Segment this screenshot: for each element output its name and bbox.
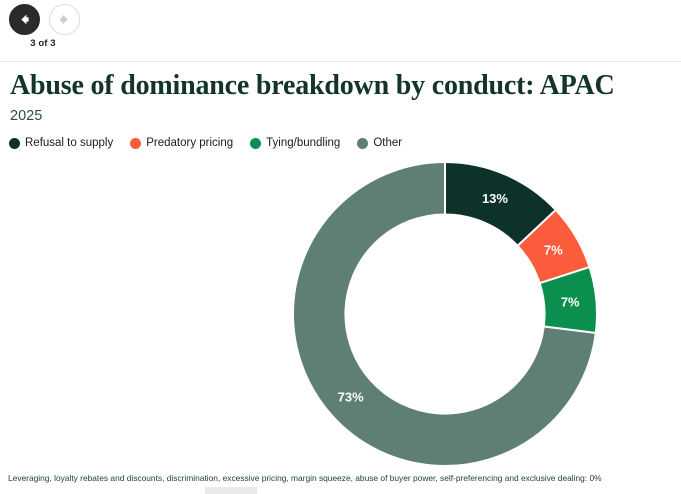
legend-label: Refusal to supply — [25, 137, 113, 150]
chart-header: Abuse of dominance breakdown by conduct:… — [10, 70, 670, 125]
legend-swatch-icon — [250, 138, 261, 149]
legend-label: Predatory pricing — [146, 137, 233, 150]
chart-title: Abuse of dominance breakdown by conduct:… — [10, 70, 670, 102]
legend-swatch-icon — [130, 138, 141, 149]
next-slide-button[interactable] — [49, 4, 80, 35]
donut-slice-label: 73% — [338, 390, 364, 405]
legend-label: Other — [373, 137, 402, 150]
chart-subtitle: 2025 — [10, 107, 670, 125]
legend-item-predatory-pricing[interactable]: Predatory pricing — [130, 137, 233, 150]
legend-item-refusal-to-supply[interactable]: Refusal to supply — [9, 137, 113, 150]
chart-legend: Refusal to supply Predatory pricing Tyin… — [9, 137, 402, 150]
donut-slice-label: 7% — [561, 295, 580, 310]
donut-slice-label: 13% — [482, 191, 508, 206]
legend-item-other[interactable]: Other — [357, 137, 402, 150]
arrow-left-icon — [17, 12, 32, 27]
legend-label: Tying/bundling — [266, 137, 340, 150]
legend-swatch-icon — [9, 138, 20, 149]
horizontal-scrollbar-thumb[interactable] — [205, 487, 257, 494]
slide-counter: 3 of 3 — [0, 38, 86, 49]
donut-chart[interactable]: 13%7%7%73% — [289, 158, 601, 470]
legend-item-tying-bundling[interactable]: Tying/bundling — [250, 137, 340, 150]
arrow-right-icon — [57, 12, 72, 27]
legend-swatch-icon — [357, 138, 368, 149]
chart-plot-area: 13%7%7%73% — [0, 158, 681, 466]
donut-slice-group — [293, 162, 597, 466]
carousel-nav-bar: 3 of 3 — [0, 0, 681, 62]
previous-slide-button[interactable] — [9, 4, 40, 35]
carousel-nav-buttons — [9, 4, 80, 35]
chart-footnote: Leveraging, loyalty rebates and discount… — [8, 472, 676, 484]
donut-slice-label: 7% — [544, 242, 563, 257]
